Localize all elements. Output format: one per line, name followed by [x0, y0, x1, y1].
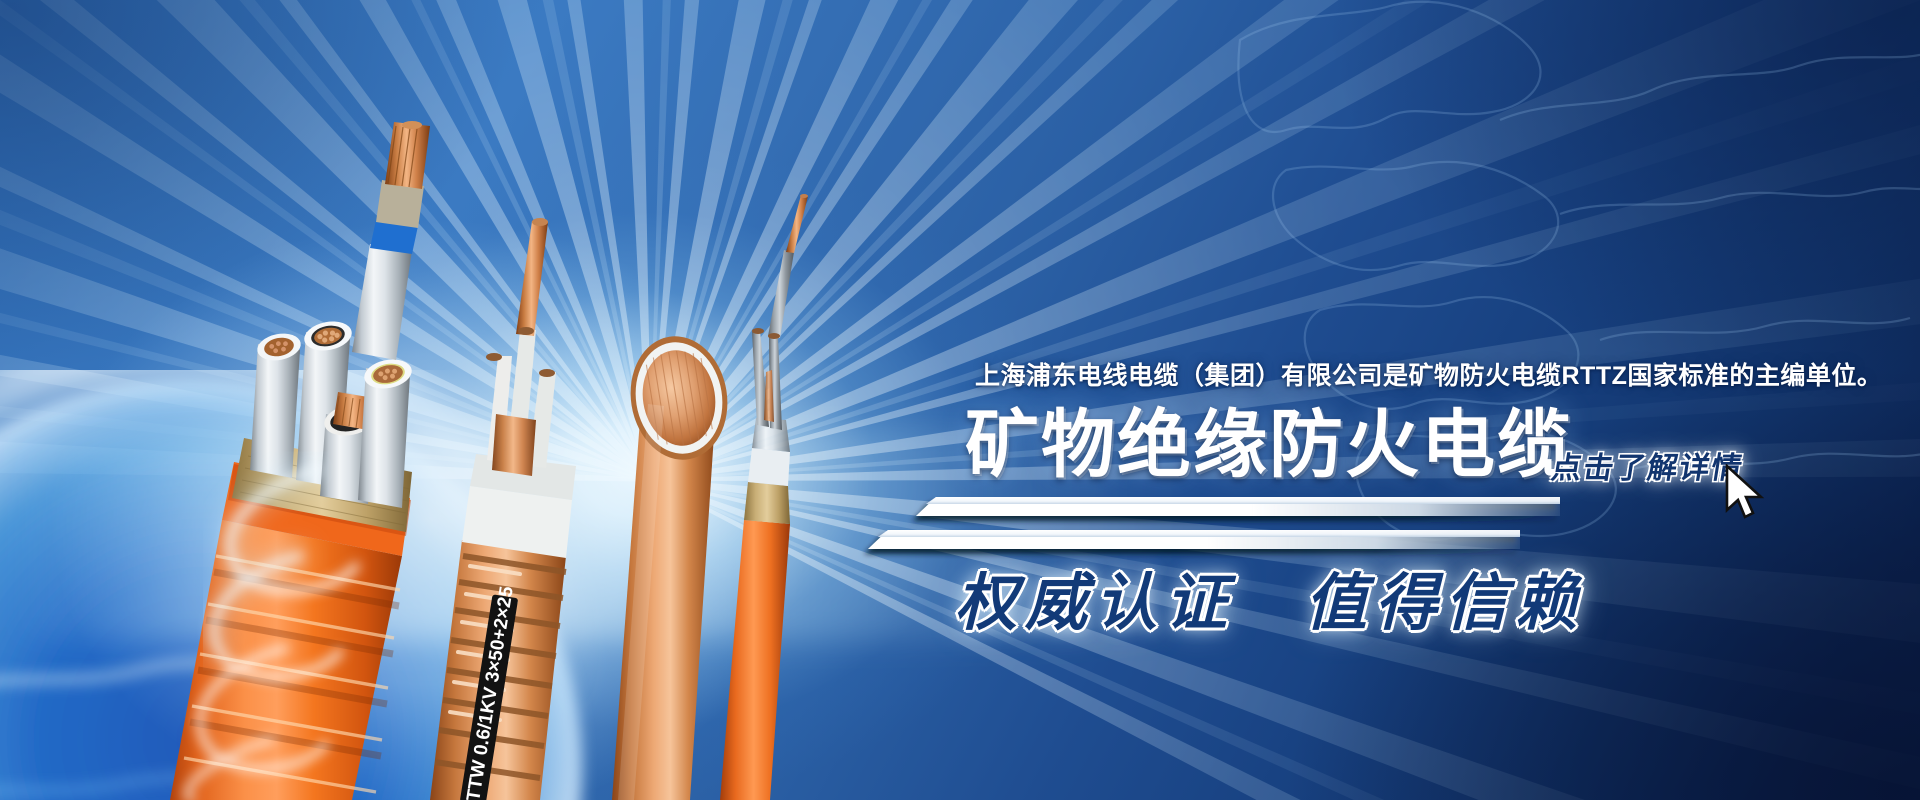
- hero-banner: YTTW 0.6/1KV 3×50+2×25: [0, 0, 1920, 800]
- cable-product-image: YTTW 0.6/1KV 3×50+2×25: [0, 0, 920, 800]
- world-map-icon: [1200, 0, 1920, 590]
